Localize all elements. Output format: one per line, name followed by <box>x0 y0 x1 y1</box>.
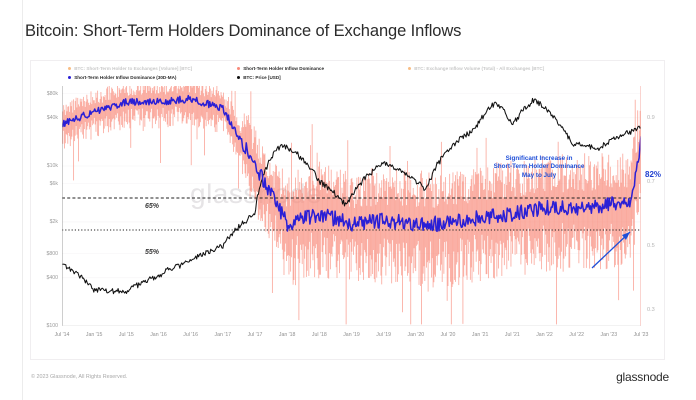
legend-swatch-icon <box>68 76 71 79</box>
y-axis-left-tick: $800 <box>0 251 58 257</box>
legend-item-label: Short-Term Holder Inflow Dominance <box>243 64 324 73</box>
x-axis-tick: Jul '19 <box>376 332 391 338</box>
threshold-label: 65% <box>145 203 159 210</box>
x-axis-tick: Jan '21 <box>472 332 489 338</box>
y-axis-right-tick: 0.3 <box>647 307 655 313</box>
x-axis-tick: Jul '14 <box>55 332 70 338</box>
y-axis-left-tick: $80k <box>0 91 58 97</box>
x-axis-tick: Jul '18 <box>312 332 327 338</box>
annotation-line-1: Significant Increase in <box>474 155 604 163</box>
legend-item-1[interactable]: Short-Term Holder Inflow Dominance <box>237 64 324 73</box>
current-value-badge: 82% <box>645 170 661 179</box>
x-axis-tick: Jul '17 <box>248 332 263 338</box>
annotation-line-3: May to July <box>474 172 604 180</box>
y-axis-left-tick: $2k <box>0 219 58 225</box>
y-axis-left-tick: $400 <box>0 275 58 281</box>
threshold-label: 55% <box>145 249 159 256</box>
y-axis-right-tick: 0.7 <box>647 179 655 185</box>
legend-swatch-icon <box>237 67 240 70</box>
x-axis-tick: Jan '16 <box>150 332 167 338</box>
y-axis-right-tick: 0.9 <box>647 115 655 121</box>
y-axis-left-tick: $100 <box>0 323 58 329</box>
y-axis-right-tick: 0.5 <box>647 243 655 249</box>
chart-annotation: Significant Increase in Short-Term Holde… <box>474 155 604 180</box>
y-axis-left-tick: $10k <box>0 163 58 169</box>
x-axis-tick: Jul '22 <box>569 332 584 338</box>
legend-swatch-icon <box>408 67 411 70</box>
legend-item-label: Short-Term Holder Inflow Dominance (30D-… <box>74 73 176 82</box>
legend-item-4[interactable]: BTC: Price [USD] <box>237 73 281 82</box>
chart-page: Bitcoin: Short-Term Holders Dominance of… <box>0 0 696 400</box>
x-axis-tick: Jan '19 <box>343 332 360 338</box>
x-axis-tick: Jan '18 <box>279 332 296 338</box>
x-axis-tick: Jul '21 <box>505 332 520 338</box>
x-axis-tick: Jan '22 <box>536 332 553 338</box>
x-axis-tick: Jan '15 <box>86 332 103 338</box>
legend-swatch-icon <box>237 76 240 79</box>
legend-item-label: BTC: Price [USD] <box>243 73 281 82</box>
legend-item-label: BTC: Exchange Inflow Volume (Total) - Al… <box>414 64 544 73</box>
x-axis-tick: Jan '23 <box>601 332 618 338</box>
chart-legend: BTC: Short-Term Holder to Exchanges [Vol… <box>30 64 670 84</box>
x-axis-tick: Jul '16 <box>183 332 198 338</box>
x-axis-tick: Jul '15 <box>119 332 134 338</box>
y-axis-left-tick: $40k <box>0 115 58 121</box>
legend-item-0[interactable]: BTC: Short-Term Holder to Exchanges [Vol… <box>68 64 192 73</box>
legend-item-3[interactable]: Short-Term Holder Inflow Dominance (30D-… <box>68 73 176 82</box>
legend-item-2[interactable]: BTC: Exchange Inflow Volume (Total) - Al… <box>408 64 544 73</box>
annotation-line-2: Short-Term Holder Dominance <box>474 163 604 171</box>
footer-logo: glassnode <box>616 370 669 384</box>
footer-copyright: © 2023 Glassnode, All Rights Reserved. <box>31 374 127 380</box>
x-axis-tick: Jan '20 <box>408 332 425 338</box>
x-axis-tick: Jan '17 <box>215 332 232 338</box>
legend-item-label: BTC: Short-Term Holder to Exchanges [Vol… <box>74 64 192 73</box>
x-axis-tick: Jul '20 <box>441 332 456 338</box>
page-title: Bitcoin: Short-Term Holders Dominance of… <box>25 22 461 41</box>
x-axis-tick: Jul '23 <box>634 332 649 338</box>
legend-swatch-icon <box>68 67 71 70</box>
y-axis-left-tick: $6k <box>0 181 58 187</box>
